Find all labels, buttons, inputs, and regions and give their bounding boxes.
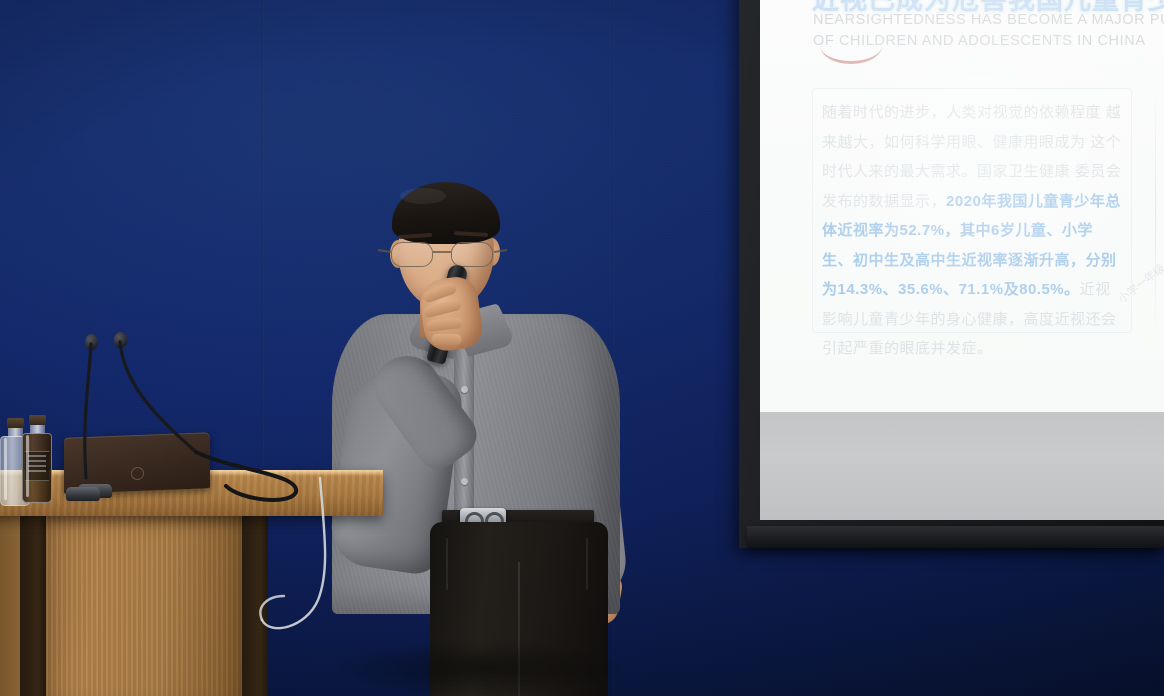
podium-dark-side-right	[242, 516, 268, 696]
eyeglasses-icon	[388, 242, 508, 268]
projection-screen: 近视已成为危害我国儿童青少年眼健 NEARSIGHTEDNESS HAS BEC…	[739, 0, 1164, 548]
projected-slide: 近视已成为危害我国儿童青少年眼健 NEARSIGHTEDNESS HAS BEC…	[760, 0, 1164, 412]
water-bottle-right	[22, 415, 52, 503]
body-line: 随着时代的进步，人类对视觉的依赖程度	[822, 104, 1101, 121]
smile-curve-accent-icon	[820, 42, 882, 64]
screen-surface: 近视已成为危害我国儿童青少年眼健 NEARSIGHTEDNESS HAS BEC…	[760, 0, 1164, 520]
podium-front-panel	[46, 516, 242, 696]
gooseneck-base-left	[66, 487, 100, 501]
lens-left	[391, 242, 433, 267]
glasses-temple-right	[494, 249, 507, 253]
screen-bottom-weight-bar	[747, 526, 1164, 548]
gooseneck-capsule-right	[114, 332, 127, 348]
body-line-highlight: 2020年我国儿童	[946, 193, 1059, 210]
finger	[426, 317, 463, 332]
shirt-button	[461, 386, 468, 393]
screen-unlit-band	[760, 412, 1164, 520]
podium-left-face	[0, 516, 20, 696]
shirt-button	[461, 478, 468, 485]
body-line-highlight: 80.5%。	[1019, 281, 1080, 298]
podium-dark-side-left	[20, 516, 46, 696]
lens-right	[451, 242, 493, 267]
slide-subtitle-line-1: NEARSIGHTEDNESS HAS BECOME A MAJOR PUB	[813, 10, 1164, 31]
podium	[0, 470, 383, 696]
trouser-pocket-seam	[586, 538, 588, 590]
bottle-highlight	[4, 438, 7, 500]
bottle-highlight	[26, 435, 29, 497]
glasses-temple-left	[378, 249, 391, 253]
slide-body-text: 随着时代的进步，人类对视觉的依赖程度 越来越大，如何科学用眼、健康用眼成为 这个…	[822, 98, 1122, 364]
trouser-pocket-seam	[446, 538, 448, 590]
laptop-logo	[131, 467, 144, 480]
lecture-hall-photo: 近视已成为危害我国儿童青少年眼健 NEARSIGHTEDNESS HAS BEC…	[0, 0, 1164, 696]
slide-vertical-divider	[1155, 86, 1156, 336]
gooseneck-capsule-left	[85, 334, 98, 350]
finger	[431, 334, 461, 345]
glasses-bridge	[433, 251, 451, 253]
